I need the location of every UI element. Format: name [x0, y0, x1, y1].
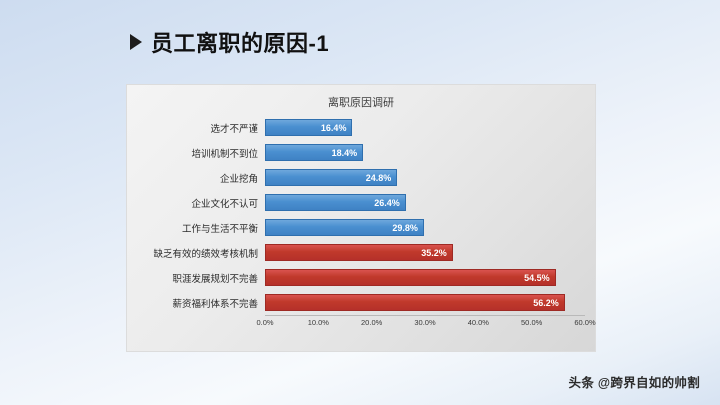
bar-track: 29.8%: [265, 218, 585, 237]
bar-row: 职涯发展规划不完善54.5%: [139, 268, 585, 287]
bar-value-label: 16.4%: [321, 123, 352, 133]
bar: 18.4%: [265, 144, 363, 161]
x-tick-label: 30.0%: [414, 318, 435, 327]
category-label: 工作与生活不平衡: [139, 221, 265, 235]
bar-track: 18.4%: [265, 143, 585, 162]
bar-value-label: 35.2%: [421, 248, 452, 258]
bar-value-label: 54.5%: [524, 273, 555, 283]
x-tick-label: 0.0%: [256, 318, 273, 327]
bar-track: 24.8%: [265, 168, 585, 187]
category-label: 培训机制不到位: [139, 146, 265, 160]
slide: 员工离职的原因-1 离职原因调研 选才不严谨16.4%培训机制不到位18.4%企…: [0, 0, 720, 405]
bar-track: 56.2%: [265, 293, 585, 312]
bar-row: 企业文化不认可26.4%: [139, 193, 585, 212]
bar-value-label: 29.8%: [392, 223, 423, 233]
bar: 56.2%: [265, 294, 565, 311]
page-title: 员工离职的原因-1: [151, 26, 329, 58]
bar-track: 54.5%: [265, 268, 585, 287]
bar-value-label: 24.8%: [366, 173, 397, 183]
chart-title: 离职原因调研: [127, 94, 595, 110]
bar-row: 缺乏有效的绩效考核机制35.2%: [139, 243, 585, 262]
bar: 26.4%: [265, 194, 406, 211]
category-label: 薪资福利体系不完善: [139, 296, 265, 310]
bar-row: 工作与生活不平衡29.8%: [139, 218, 585, 237]
x-axis: 0.0%10.0%20.0%30.0%40.0%50.0%60.0%: [265, 315, 585, 341]
x-axis-line: [265, 315, 585, 316]
x-tick-label: 50.0%: [521, 318, 542, 327]
bar-row: 选才不严谨16.4%: [139, 118, 585, 137]
category-label: 企业文化不认可: [139, 196, 265, 210]
x-tick-label: 40.0%: [468, 318, 489, 327]
x-tick-label: 20.0%: [361, 318, 382, 327]
category-label: 职涯发展规划不完善: [139, 271, 265, 285]
bar: 16.4%: [265, 119, 352, 136]
watermark: 头条 @跨界自如的帅割: [569, 372, 700, 391]
slide-title: 员工离职的原因-1: [130, 26, 329, 58]
bar: 54.5%: [265, 269, 556, 286]
chart-container: 离职原因调研 选才不严谨16.4%培训机制不到位18.4%企业挖角24.8%企业…: [126, 84, 596, 352]
bar-track: 26.4%: [265, 193, 585, 212]
category-label: 选才不严谨: [139, 121, 265, 135]
bar-row: 培训机制不到位18.4%: [139, 143, 585, 162]
bar-value-label: 26.4%: [374, 198, 405, 208]
bar: 24.8%: [265, 169, 397, 186]
category-label: 缺乏有效的绩效考核机制: [139, 246, 265, 260]
chart-plot-area: 选才不严谨16.4%培训机制不到位18.4%企业挖角24.8%企业文化不认可26…: [139, 115, 585, 341]
bar-track: 16.4%: [265, 118, 585, 137]
bar-row: 薪资福利体系不完善56.2%: [139, 293, 585, 312]
play-triangle-icon: [130, 34, 142, 50]
bar-row: 企业挖角24.8%: [139, 168, 585, 187]
x-tick-label: 60.0%: [574, 318, 595, 327]
bar-value-label: 18.4%: [332, 148, 363, 158]
category-label: 企业挖角: [139, 171, 265, 185]
bar-track: 35.2%: [265, 243, 585, 262]
bar: 29.8%: [265, 219, 424, 236]
bar: 35.2%: [265, 244, 453, 261]
bar-rows: 选才不严谨16.4%培训机制不到位18.4%企业挖角24.8%企业文化不认可26…: [139, 115, 585, 315]
bar-value-label: 56.2%: [533, 298, 564, 308]
x-tick-label: 10.0%: [308, 318, 329, 327]
